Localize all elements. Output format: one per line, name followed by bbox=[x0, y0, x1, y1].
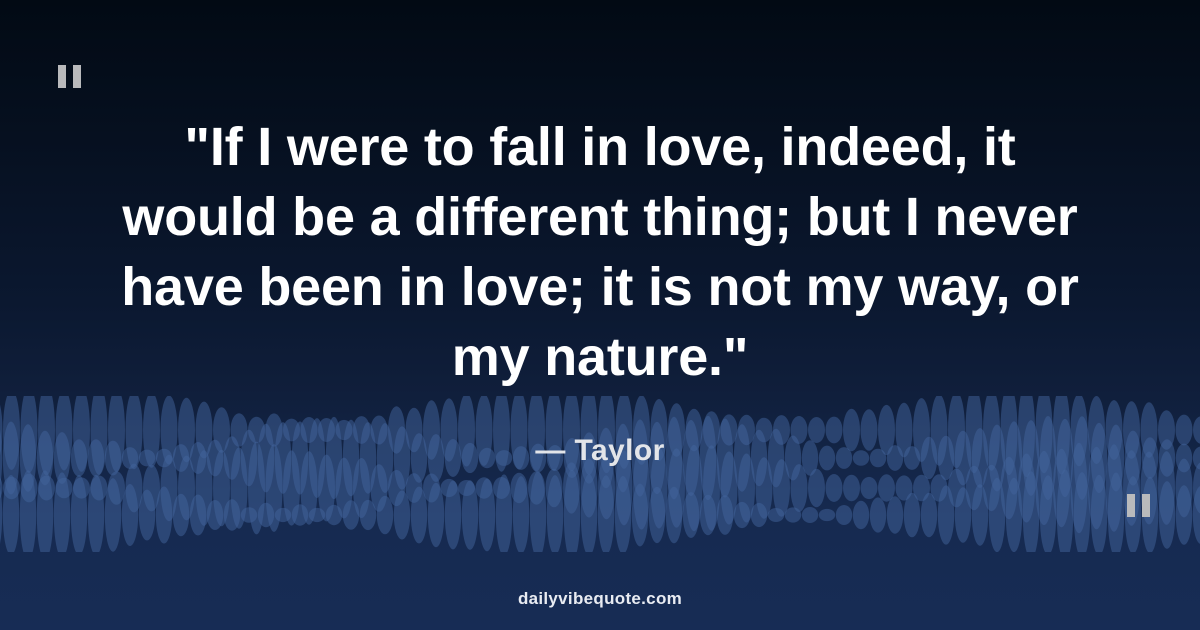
quote-mark-bar bbox=[73, 65, 81, 88]
waveform-svg bbox=[0, 396, 1200, 552]
site-watermark: dailyvibequote.com bbox=[0, 589, 1200, 609]
quote-mark-icon-top bbox=[58, 65, 81, 88]
quote-text: "If I were to fall in love, indeed, it w… bbox=[65, 112, 1135, 392]
quote-mark-bar bbox=[1127, 494, 1135, 517]
quote-author: — Taylor bbox=[0, 434, 1200, 468]
quote-mark-bar bbox=[58, 65, 66, 88]
quote-mark-icon-bottom bbox=[1127, 494, 1150, 517]
quote-card: "If I were to fall in love, indeed, it w… bbox=[0, 0, 1200, 630]
waveform-decoration bbox=[0, 396, 1200, 552]
quote-mark-bar bbox=[1142, 494, 1150, 517]
